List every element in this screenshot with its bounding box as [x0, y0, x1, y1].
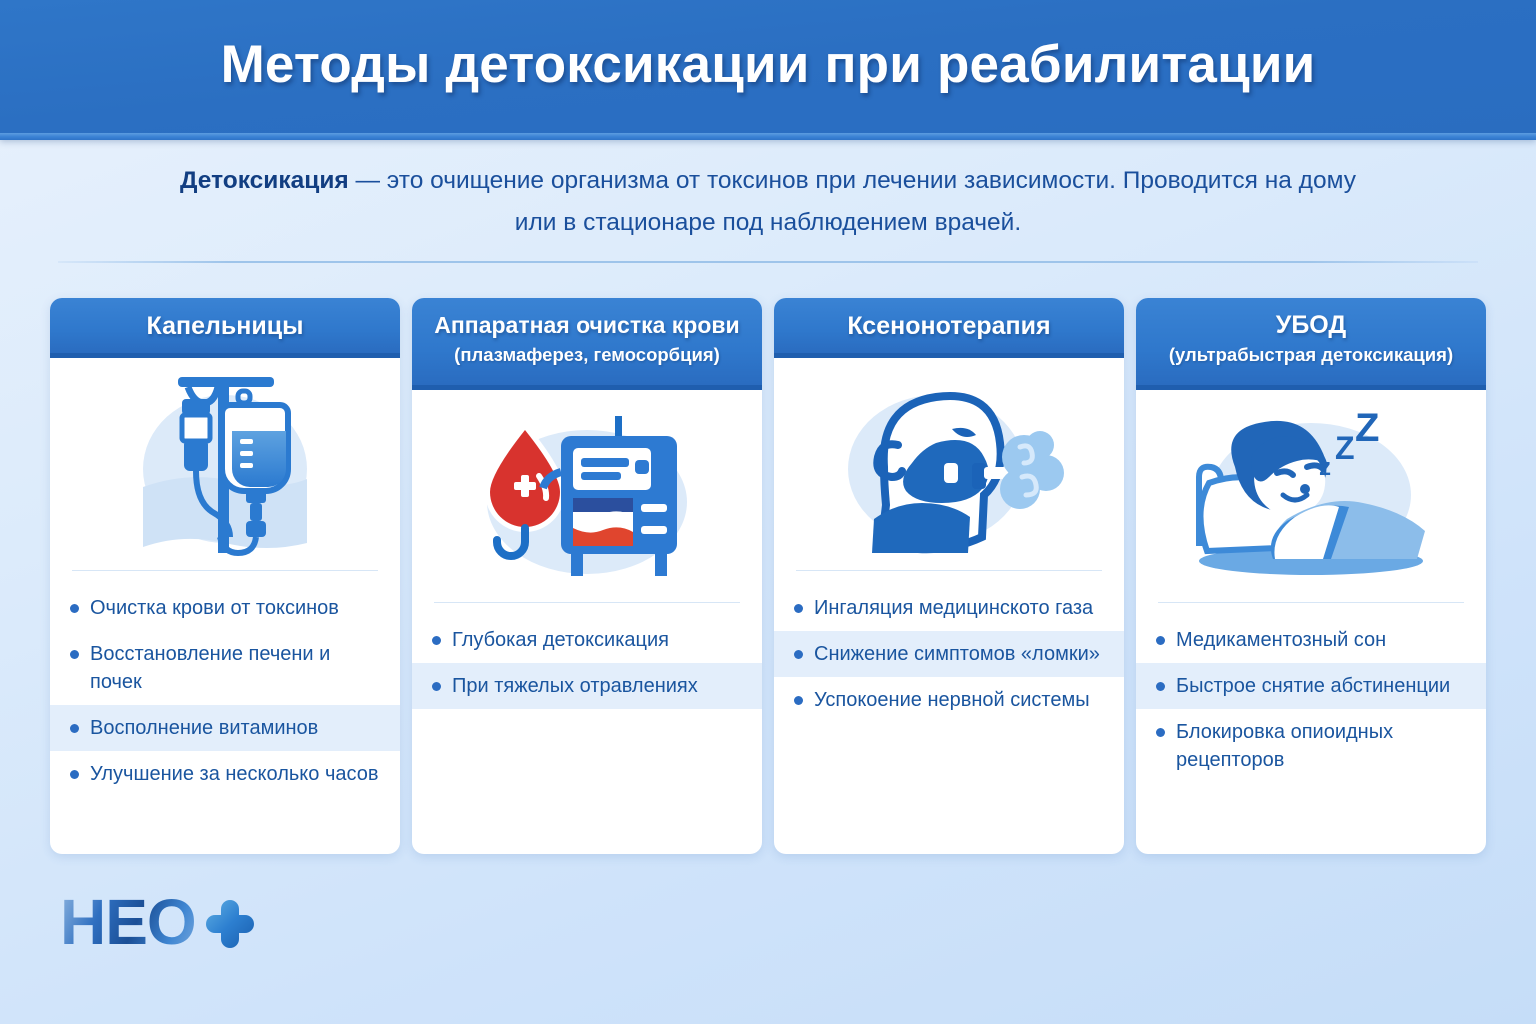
bullet-dot-icon [1156, 728, 1165, 737]
card-title: Капельницы [147, 311, 304, 342]
benefit-list: Глубокая детоксикация При тяжелых отравл… [412, 617, 762, 854]
list-item-label: При тяжелых отравлениях [452, 672, 698, 700]
logo-plus-icon [206, 900, 254, 948]
svg-text:z: z [1319, 454, 1331, 481]
list-item-label: Снижение симптомов «ломки» [814, 640, 1100, 668]
list-item-label: Улучшение за несколько часов [90, 760, 378, 788]
benefit-list: Очистка крови от токсинов Восстановление… [50, 585, 400, 854]
list-item: Снижение симптомов «ломки» [774, 631, 1124, 677]
bullet-dot-icon [794, 604, 803, 613]
xenon-mask-icon [774, 358, 1124, 570]
brand-logo: HEO [60, 888, 254, 956]
benefit-list: Медикаментозный сон Быстрое снятие абсти… [1136, 617, 1486, 854]
list-item: Медикаментозный сон [1136, 617, 1486, 663]
list-item-label: Восполнение витаминов [90, 714, 318, 742]
bullet-dot-icon [70, 724, 79, 733]
list-item-label: Быстрое снятие абстиненции [1176, 672, 1450, 700]
card-subtitle: (плазмаферез, гемосорбция) [422, 342, 752, 368]
list-item-label: Ингаляция медицинското газа [814, 594, 1093, 622]
list-item: Успокоение нервной системы [774, 677, 1124, 723]
svg-text:Z: Z [1335, 430, 1355, 466]
list-item: Восполнение витаминов [50, 705, 400, 751]
card-separator [1158, 602, 1464, 603]
methods-card-grid: Капельницы [50, 298, 1486, 854]
list-item: Улучшение за несколько часов [50, 751, 400, 797]
card-separator [434, 602, 740, 603]
bullet-dot-icon [70, 604, 79, 613]
card-header: Капельницы [50, 298, 400, 358]
card-header: УБОД (ультрабыстрая детоксикация) [1136, 298, 1486, 390]
list-item-label: Успокоение нервной системы [814, 686, 1090, 714]
logo-wordmark: HEO [60, 888, 196, 956]
list-item-label: Медикаментозный сон [1176, 626, 1386, 654]
intro-paragraph: Детоксикация — это очищение организма от… [168, 160, 1368, 244]
method-card-apparatnaya-ochistka[interactable]: Аппаратная очистка крови (плазмаферез, г… [412, 298, 762, 854]
card-title: УБОД [1146, 310, 1476, 341]
list-item: Очистка крови от токсинов [50, 585, 400, 631]
card-header: Аппаратная очистка крови (плазмаферез, г… [412, 298, 762, 390]
svg-text:Z: Z [1355, 411, 1379, 450]
bullet-dot-icon [1156, 682, 1165, 691]
section-divider [58, 261, 1478, 263]
list-item: Восстановление печени и почек [50, 631, 400, 705]
card-separator [796, 570, 1102, 571]
list-item: Глубокая детоксикация [412, 617, 762, 663]
bullet-dot-icon [1156, 636, 1165, 645]
method-card-ubod[interactable]: УБОД (ультрабыстрая детоксикация) z [1136, 298, 1486, 854]
card-header: Ксенонотерапия [774, 298, 1124, 358]
iv-drip-icon [50, 358, 400, 570]
method-card-ksenonoterapiya[interactable]: Ксенонотерапия [774, 298, 1124, 854]
bullet-dot-icon [432, 636, 441, 645]
list-item: Блокировка опиоидных рецепторов [1136, 709, 1486, 783]
method-card-kapelnitsy[interactable]: Капельницы [50, 298, 400, 854]
card-title: Аппаратная очистка крови [422, 310, 752, 341]
bullet-dot-icon [70, 770, 79, 779]
list-item: Быстрое снятие абстиненции [1136, 663, 1486, 709]
page-header: Методы детоксикации при реабилитации [0, 0, 1536, 140]
bullet-dot-icon [70, 650, 79, 659]
card-separator [72, 570, 378, 571]
sleeping-patient-icon: z Z Z [1136, 390, 1486, 602]
benefit-list: Ингаляция медицинското газа Снижение сим… [774, 585, 1124, 854]
page-title: Методы детоксикации при реабилитации [0, 34, 1536, 95]
bullet-dot-icon [794, 696, 803, 705]
list-item-label: Восстановление печени и почек [90, 640, 384, 696]
list-item-label: Очистка крови от токсинов [90, 594, 339, 622]
list-item: При тяжелых отравлениях [412, 663, 762, 709]
intro-lead-word: Детоксикация [180, 167, 349, 194]
card-title: Ксенонотерапия [847, 311, 1050, 342]
card-subtitle: (ультрабыстрая детоксикация) [1146, 342, 1476, 368]
list-item: Ингаляция медицинското газа [774, 585, 1124, 631]
list-item-label: Глубокая детоксикация [452, 626, 669, 654]
blood-purification-icon [412, 390, 762, 602]
bullet-dot-icon [794, 650, 803, 659]
list-item-label: Блокировка опиоидных рецепторов [1176, 718, 1470, 774]
bullet-dot-icon [432, 682, 441, 691]
intro-rest-text: — это очищение организма от токсинов при… [349, 167, 1356, 236]
